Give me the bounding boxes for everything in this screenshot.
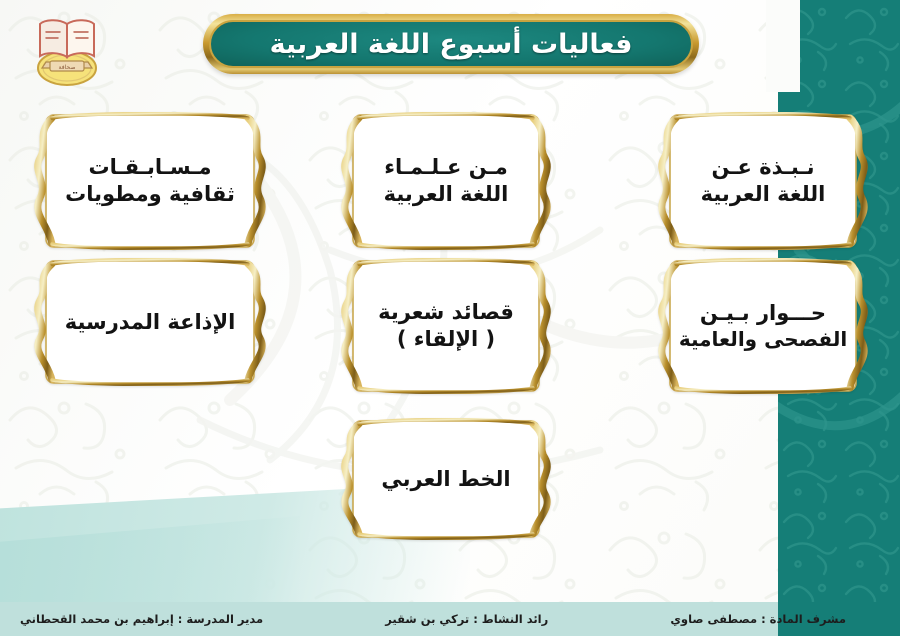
page-title: فعاليات أسبوع اللغة العربية (270, 29, 633, 60)
poster-title-banner: فعاليات أسبوع اللغة العربية (203, 14, 699, 74)
poster-canvas: صحافة فعاليات أسبوع اللغة العربية (0, 0, 900, 636)
school-crest-logo: صحافة (28, 12, 106, 88)
activity-card-competitions[interactable]: مـسـابـقـات ثقافية ومطويات (22, 112, 278, 250)
activity-card-dialogue[interactable]: حـــوار بـيـن الفصحى والعامية (648, 258, 878, 394)
card-gold-frame (331, 112, 561, 250)
activity-card-poetry[interactable]: قصائد شعرية ( الإلقاء ) (331, 258, 561, 394)
panel-top-notch (766, 0, 800, 92)
poster-title-inner: فعاليات أسبوع اللغة العربية (209, 20, 693, 68)
svg-text:صحافة: صحافة (59, 64, 76, 71)
footer-supervisor: مشرف المادة : مصطفى صاوي (670, 612, 846, 626)
card-gold-frame (331, 258, 561, 394)
activity-card-scholars[interactable]: مـن عـلـمـاء اللغة العربية (331, 112, 561, 250)
footer-activity-leader: رائد النشاط : تركي بن شقير (385, 612, 548, 626)
card-gold-frame (648, 112, 878, 250)
card-gold-frame (22, 112, 278, 250)
card-gold-frame (648, 258, 878, 394)
footer-bar: مشرف المادة : مصطفى صاوي رائد النشاط : ت… (0, 602, 900, 636)
card-gold-frame (331, 418, 561, 540)
card-gold-frame (22, 258, 278, 386)
activity-card-school-radio[interactable]: الإذاعة المدرسية (22, 258, 278, 386)
footer-principal: مدير المدرسة : إبراهيم بن محمد القحطاني (20, 612, 263, 626)
activity-card-about-arabic[interactable]: نـبـذة عـن اللغة العربية (648, 112, 878, 250)
activity-card-calligraphy[interactable]: الخط العربي (331, 418, 561, 540)
